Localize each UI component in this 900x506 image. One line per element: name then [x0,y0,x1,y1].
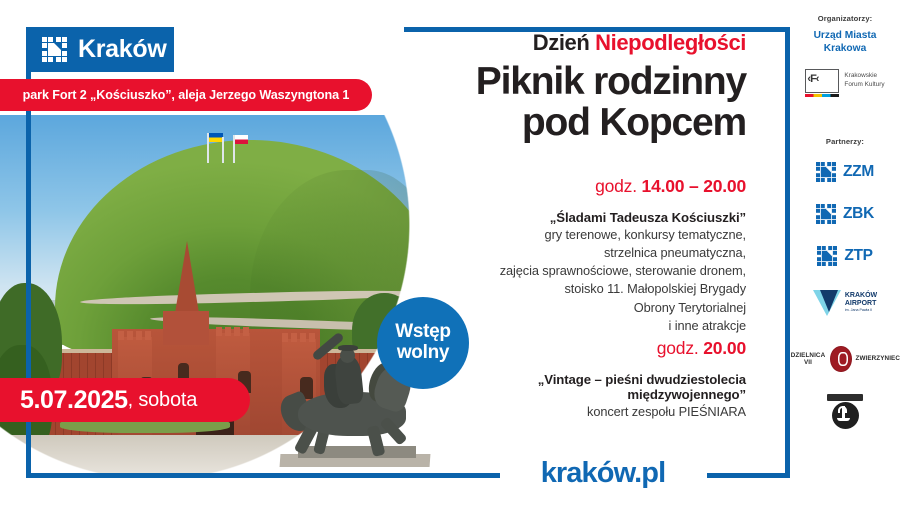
airport-triangle-icon [813,290,841,316]
organizer-name: Urząd Miasta Krakowa [790,30,900,56]
program-1-time-value: 14.00 – 20.00 [642,176,746,196]
program-2-time-value: 20.00 [703,338,746,358]
krakow-pixel-mark-icon [42,37,67,62]
program-2-time-label: godz. [657,338,703,358]
program-1-body: gry terenowe, konkursy tematyczne, strze… [404,226,746,335]
kfk-mark-icon: ‹F‹ [805,69,839,93]
airport-name: KRAKÓW AIRPORT im. Jana Pawła II [845,292,877,312]
organizers-label: Organizatorzy: [790,14,900,23]
program-block-1: godz. 14.00 – 20.00 „Śladami Tadeusza Ko… [404,176,772,335]
partners-label: Partnerzy: [790,137,900,146]
program-1-time: godz. 14.00 – 20.00 [404,176,746,197]
headline-main-line2: pod Kopcem [404,103,746,144]
headline-superline: Dzień Niepodległości [404,30,746,56]
partner-logo-zbk: ZBK [790,204,900,224]
venue-address-text: park Fort 2 „Kościuszko”, aleja Jerzego … [23,88,350,102]
kfk-logo: ‹F‹ Krakowskie Forum Kultury [790,69,900,93]
headline-main: Piknik rodzinny pod Kopcem [404,62,746,143]
event-date: 5.07.2025 [20,386,128,415]
sponsor-rail: Organizatorzy: Urząd Miasta Krakowa ‹F‹ … [790,0,900,506]
krakow-pixel-mark-icon [816,204,836,224]
program-2-body: koncert zespołu PIEŚNIARA [404,403,746,421]
headline-sup-prefix: Dzień [533,30,595,55]
kfk-color-bar [805,94,839,97]
partner-logo-ztp: ZTP [790,246,900,266]
partner-logo-zzm: ZZM [790,162,900,182]
anchor-disc [832,402,859,429]
headline-block: Dzień Niepodległości Piknik rodzinny pod… [404,30,772,143]
partner-label-ztp: ZTP [844,247,872,265]
district-zwierzyniec-logo: DZIELNICA VII ZWIERZYNIEC [790,346,900,372]
website-url[interactable]: kraków.pl [500,452,706,494]
headline-sup-accent: Niepodległości [595,30,746,55]
krakow-airport-logo: KRAKÓW AIRPORT im. Jana Pawła II [790,290,900,316]
program-block-2: godz. 20.00 „Vintage – pieśni dwudziesto… [404,338,772,421]
airport-sub: im. Jana Pawła II [845,308,877,312]
event-weekday: , sobota [128,389,198,412]
kfk-glyph: ‹F‹ [807,73,818,85]
district-left-text: DZIELNICA VII [790,352,826,366]
museum-caption-plate [827,394,863,401]
krakow-wordmark: Kraków [78,37,167,62]
airport-line2: AIRPORT [845,300,877,308]
program-1-time-label: godz. [595,176,641,196]
krakow-pixel-mark-icon [817,246,837,266]
event-date-pill: 5.07.2025 , sobota [0,378,250,422]
airport-line1: KRAKÓW [845,292,877,300]
frame-bottom-right [707,473,790,478]
frame-bottom-left [26,473,500,478]
program-2-title: „Vintage – pieśni dwudziestolecia między… [404,372,746,402]
partner-label-zzm: ZZM [843,163,874,181]
venue-address-pill: park Fort 2 „Kościuszko”, aleja Jerzego … [0,79,372,111]
district-seal-icon [830,346,852,372]
program-2-time: godz. 20.00 [404,338,746,359]
krakow-logo-badge: Kraków [26,27,174,72]
krakow-pixel-mark-icon [816,162,836,182]
headline-main-line1: Piknik rodzinny [404,62,746,103]
kfk-name: Krakowskie Forum Kultury [844,72,884,89]
event-poster: Kraków park Fort 2 „Kościuszko”, aleja J… [0,0,900,506]
partner-label-zbk: ZBK [843,205,874,223]
rider-hat [338,345,358,351]
anchor-flukes [837,418,850,421]
district-right-text: ZWIERZYNIEC [856,355,900,362]
program-1-title: „Śladami Tadeusza Kościuszki” [404,210,746,225]
polska-walczaca-anchor-icon [822,394,868,432]
